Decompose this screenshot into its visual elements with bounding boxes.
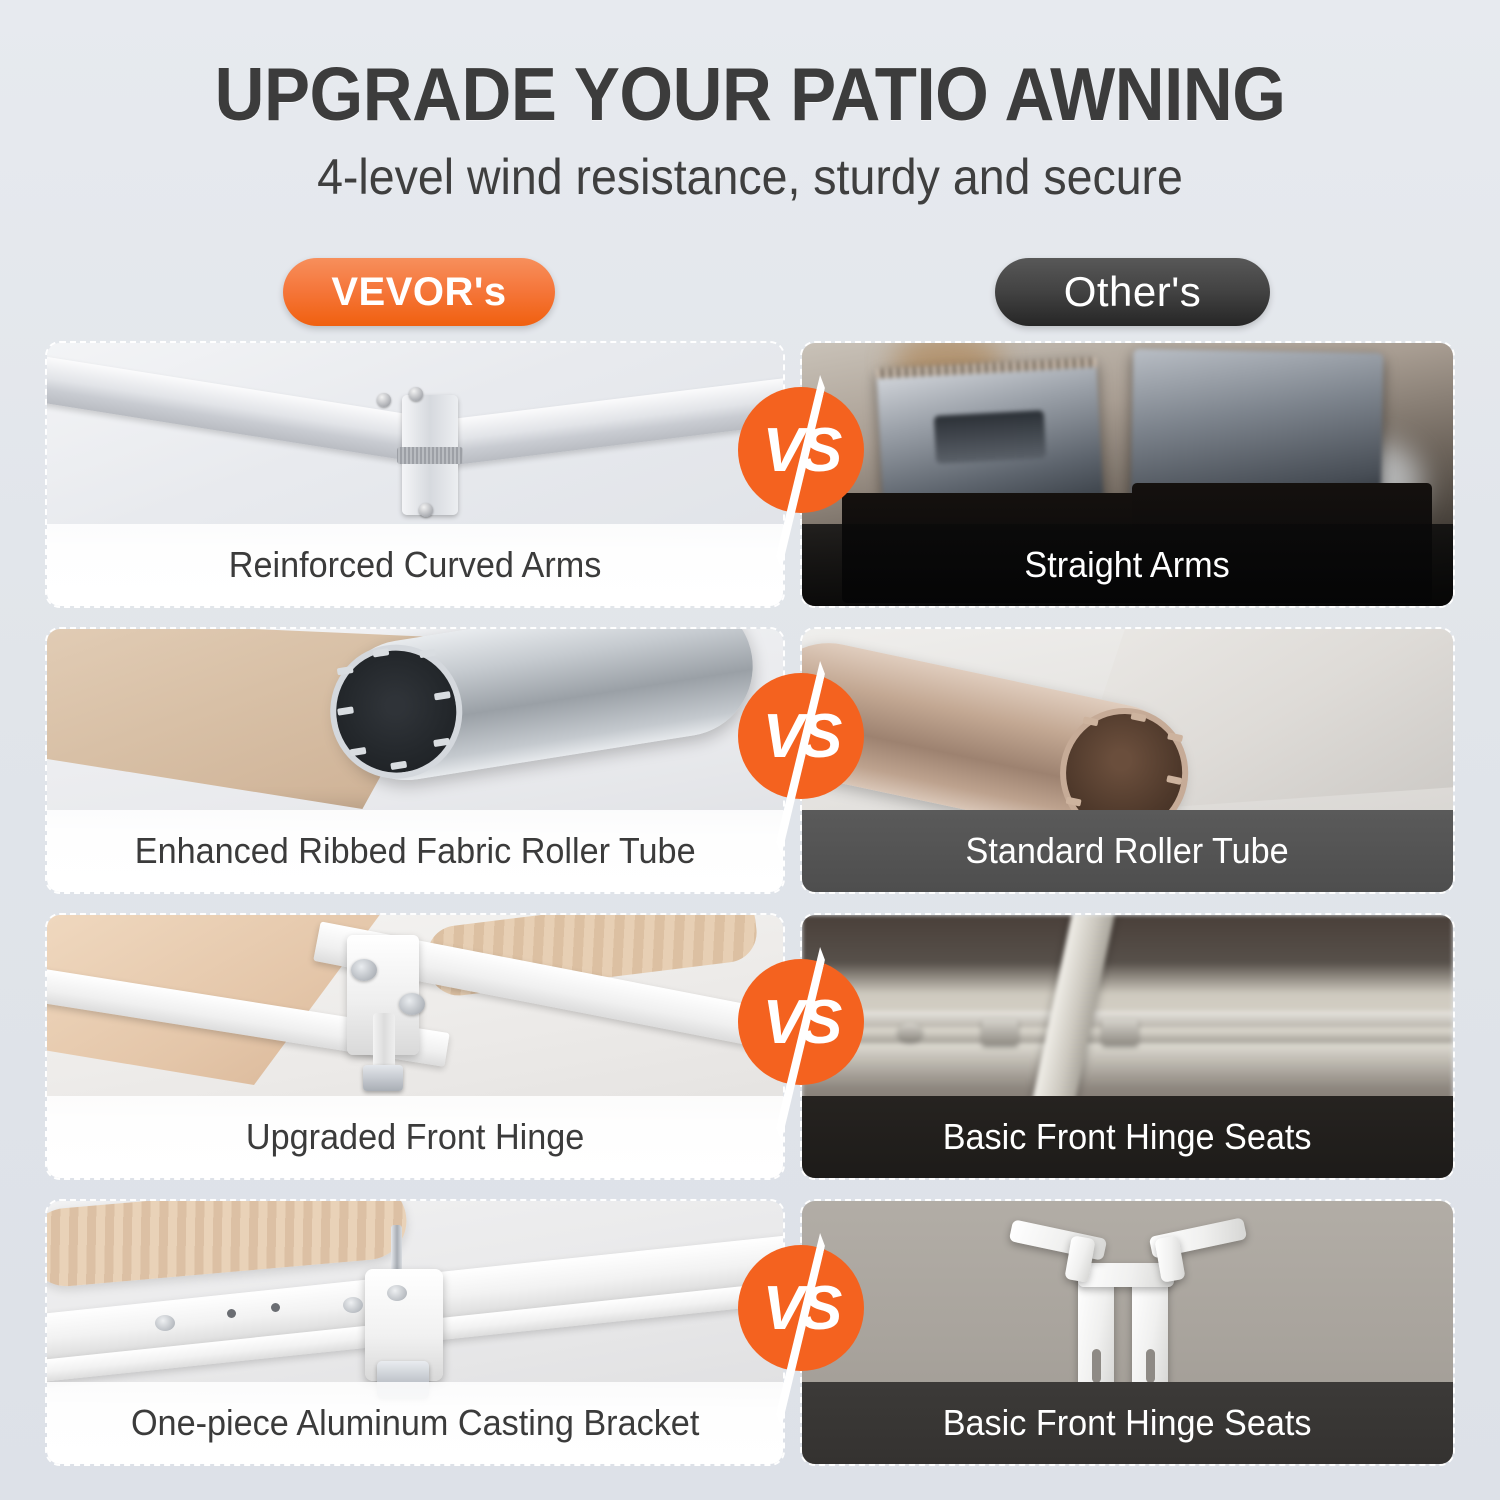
vevor-card-front-hinge: Upgraded Front Hinge — [45, 913, 785, 1180]
comparison-row: One-piece Aluminum Casting Bracket Basic… — [45, 1199, 1455, 1466]
other-card-front-hinge: Basic Front Hinge Seats — [800, 913, 1455, 1180]
other-card-arms: Straight Arms — [800, 341, 1455, 608]
other-card-hinge-seats: Basic Front Hinge Seats — [800, 1199, 1455, 1466]
comparison-grid: Reinforced Curved Arms Strai — [45, 341, 1455, 1485]
caption: Straight Arms — [802, 524, 1453, 606]
vevor-card-casting-bracket: One-piece Aluminum Casting Bracket — [45, 1199, 785, 1466]
caption: Reinforced Curved Arms — [47, 524, 783, 606]
other-card-roller-tube: Standard Roller Tube — [800, 627, 1455, 894]
caption: One-piece Aluminum Casting Bracket — [47, 1382, 783, 1464]
comparison-row: Enhanced Ribbed Fabric Roller Tube Sta — [45, 627, 1455, 894]
caption-text: One-piece Aluminum Casting Bracket — [131, 1402, 699, 1444]
caption: Enhanced Ribbed Fabric Roller Tube — [47, 810, 783, 892]
caption: Basic Front Hinge Seats — [802, 1096, 1453, 1178]
caption-text: Basic Front Hinge Seats — [943, 1116, 1312, 1158]
caption-text: Upgraded Front Hinge — [246, 1116, 584, 1158]
column-headers: VEVOR's Other's — [0, 258, 1500, 328]
caption-text: Enhanced Ribbed Fabric Roller Tube — [135, 830, 696, 872]
caption: Upgraded Front Hinge — [47, 1096, 783, 1178]
caption: Basic Front Hinge Seats — [802, 1382, 1453, 1464]
caption-text: Straight Arms — [1025, 544, 1230, 586]
column-label-vevor: VEVOR's — [283, 258, 555, 326]
caption-text: Reinforced Curved Arms — [229, 544, 602, 586]
comparison-row: Upgraded Front Hinge Basic Front Hinge S… — [45, 913, 1455, 1180]
caption: Standard Roller Tube — [802, 810, 1453, 892]
comparison-row: Reinforced Curved Arms Strai — [45, 341, 1455, 608]
vevor-card-arms: Reinforced Curved Arms — [45, 341, 785, 608]
caption-text: Standard Roller Tube — [966, 830, 1289, 872]
column-label-other: Other's — [995, 258, 1270, 326]
page-title: UPGRADE YOUR PATIO AWNING — [60, 52, 1440, 136]
header: UPGRADE YOUR PATIO AWNING 4-level wind r… — [0, 0, 1500, 208]
vevor-card-roller-tube: Enhanced Ribbed Fabric Roller Tube — [45, 627, 785, 894]
page-subtitle: 4-level wind resistance, sturdy and secu… — [53, 146, 1448, 208]
caption-text: Basic Front Hinge Seats — [943, 1402, 1312, 1444]
